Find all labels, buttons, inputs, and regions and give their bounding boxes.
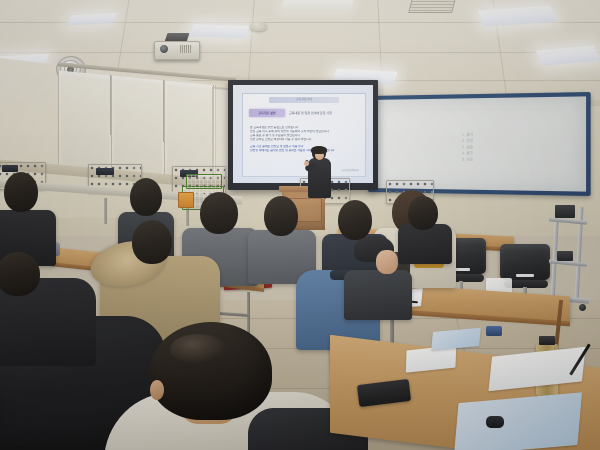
cart-caster xyxy=(579,304,586,311)
whiteboard-surface[interactable] xyxy=(372,96,586,191)
projection-screen: 교육 과정 안내 교육개요 설명 교육내용 및 일정 안내에 관한 사항 본 교… xyxy=(228,80,378,190)
hair-highlight xyxy=(170,334,226,364)
student-right-edge xyxy=(398,196,454,260)
cart-equipment-box xyxy=(557,251,573,261)
bottle-cap xyxy=(539,336,555,345)
student-head xyxy=(264,196,298,236)
screen-surface: 교육 과정 안내 교육개요 설명 교육내용 및 일정 안내에 관한 사항 본 교… xyxy=(233,85,373,183)
trainer-display xyxy=(2,165,18,172)
slide-chip-label: 교육개요 설명 xyxy=(249,111,285,115)
ceiling-air-vent xyxy=(408,0,456,13)
student-head xyxy=(130,178,162,216)
slide-chip-side-text: 교육내용 및 일정 안내에 관한 사항 xyxy=(289,111,361,115)
student-head xyxy=(408,196,438,230)
classroom-photo: 1. 출석 2. 안전 3. 실습 4. 평가 5. 수료 교육 과정 안내 교… xyxy=(0,0,600,450)
trainer-display xyxy=(96,168,114,175)
student-torso xyxy=(398,224,452,264)
student-left-mid xyxy=(0,252,100,362)
mouse-device[interactable] xyxy=(486,416,504,428)
ceiling-light-panel xyxy=(67,13,118,25)
student-ear xyxy=(150,380,164,400)
slide-title-text: 교육 과정 안내 xyxy=(273,97,335,101)
smoke-detector-icon xyxy=(250,22,267,31)
blind-pull-chain[interactable] xyxy=(163,80,164,142)
ceiling-light-panel xyxy=(280,0,354,11)
whiteboard-note-line: 5. 수료 xyxy=(462,157,473,163)
chair-label xyxy=(516,274,534,277)
student-head xyxy=(132,220,172,264)
blind-pull-chain[interactable] xyxy=(110,75,111,135)
student-head xyxy=(4,172,38,212)
student-torso xyxy=(344,270,412,320)
small-gadget[interactable] xyxy=(486,326,502,336)
student-foreground xyxy=(118,330,354,450)
window-blind[interactable] xyxy=(58,70,112,173)
blue-handout[interactable] xyxy=(454,392,582,450)
presenter-at-podium xyxy=(305,146,335,198)
presenter-hair xyxy=(311,146,327,154)
student-head xyxy=(0,252,40,296)
ceiling-projector xyxy=(152,33,200,59)
cart-equipment-box xyxy=(555,205,575,218)
ceiling-light-panel xyxy=(478,5,556,26)
student-back-left-1 xyxy=(0,172,58,264)
projector-lens-icon xyxy=(160,45,168,53)
whiteboard-notes: 1. 출석 2. 안전 3. 실습 4. 평가 5. 수료 xyxy=(462,132,473,164)
slide-footer: 한국산업인력공단 xyxy=(341,168,359,172)
green-storage-crate[interactable] xyxy=(186,174,222,189)
student-head xyxy=(338,200,372,240)
student-face xyxy=(376,250,398,274)
presenter-hand xyxy=(304,161,309,166)
ceiling-light-panel xyxy=(536,45,600,65)
